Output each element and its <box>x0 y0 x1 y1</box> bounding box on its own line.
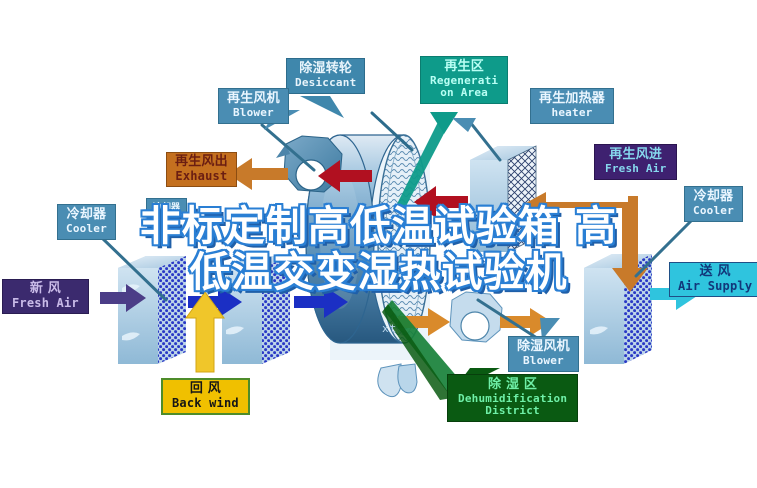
regeneration-heater <box>470 146 536 252</box>
diagram-artwork <box>0 0 757 488</box>
callout-cooler-right[interactable]: 冷却器 Cooler <box>684 186 743 222</box>
callout-regeneration-heater-cn: 再生加热器 <box>539 92 605 107</box>
callout-dehumidification-district-en2: District <box>458 405 567 417</box>
callout-dehumidification-blower-en: Blower <box>517 355 570 367</box>
callout-regeneration-blower-en: Blower <box>227 107 280 119</box>
callout-back-wind-en: Back wind <box>172 397 239 410</box>
callout-back-wind-cn: 回 风 <box>172 382 239 397</box>
arrow-exhaust <box>228 158 288 190</box>
callout-regeneration-area-en: Regenerati <box>430 75 498 87</box>
callout-dehumidification-district-cn: 除 湿 区 <box>458 378 567 393</box>
callout-regeneration-heater[interactable]: 再生加热器 heater <box>530 88 614 124</box>
callout-dehumidification-district[interactable]: 除 湿 区 Dehumidification District <box>447 374 578 422</box>
dehumidifier-process-diagram: 除湿转轮 Desiccant 再生风机 Blower 再生区 Regenerat… <box>0 0 757 488</box>
callout-exhaust-en: Exhaust <box>175 170 228 183</box>
callout-cooler-right-en: Cooler <box>693 205 734 217</box>
callout-fresh-air-in[interactable]: 新 风 Fresh Air <box>2 279 89 314</box>
callout-regeneration-fresh-air-in-en: Fresh Air <box>605 163 666 175</box>
callout-cooler-left[interactable]: 冷却器 Cooler <box>57 204 116 240</box>
callout-regeneration-blower[interactable]: 再生风机 Blower <box>218 88 289 124</box>
callout-regeneration-area-cn: 再生区 <box>430 60 498 75</box>
callout-desiccant-wheel[interactable]: 除湿转轮 Desiccant <box>286 58 365 94</box>
callout-dehumidification-district-en: Dehumidification <box>458 393 567 405</box>
callout-air-supply-en: Air Supply <box>678 280 752 293</box>
callout-regeneration-area[interactable]: 再生区 Regenerati on Area <box>420 56 508 104</box>
callout-regeneration-fresh-air-in-cn: 再生风进 <box>605 148 666 163</box>
callout-dehumidification-blower-cn: 除湿风机 <box>517 340 570 355</box>
callout-regeneration-fresh-air-in[interactable]: 再生风进 Fresh Air <box>594 144 677 180</box>
callout-air-supply-cn: 送 风 <box>678 265 752 280</box>
callout-dehumidification-blower[interactable]: 除湿风机 Blower <box>508 336 579 372</box>
callout-regeneration-area-en2: on Area <box>430 87 498 99</box>
callout-back-wind[interactable]: 回 风 Back wind <box>161 378 250 415</box>
callout-cooler-mid-occluded[interactable]: 冷却器 <box>146 198 187 214</box>
callout-desiccant-wheel-cn: 除湿转轮 <box>295 62 356 77</box>
callout-exhaust-cn: 再生风出 <box>175 155 228 170</box>
wheel-drive-belt <box>378 364 417 397</box>
callout-exhaust[interactable]: 再生风出 Exhaust <box>166 152 237 187</box>
callout-fresh-air-in-en: Fresh Air <box>12 297 79 310</box>
callout-desiccant-wheel-en: Desiccant <box>295 77 356 89</box>
callout-air-supply[interactable]: 送 风 Air Supply <box>669 262 757 297</box>
callout-regeneration-heater-en: heater <box>539 107 605 119</box>
cooler-unit-2 <box>222 256 290 364</box>
dehumidification-blower <box>450 292 502 342</box>
callout-cooler-left-en: Cooler <box>66 223 107 235</box>
callout-regeneration-blower-cn: 再生风机 <box>227 92 280 107</box>
callout-fresh-air-in-cn: 新 风 <box>12 282 79 297</box>
callout-cooler-left-cn: 冷却器 <box>66 208 107 223</box>
callout-cooler-right-cn: 冷却器 <box>693 190 734 205</box>
